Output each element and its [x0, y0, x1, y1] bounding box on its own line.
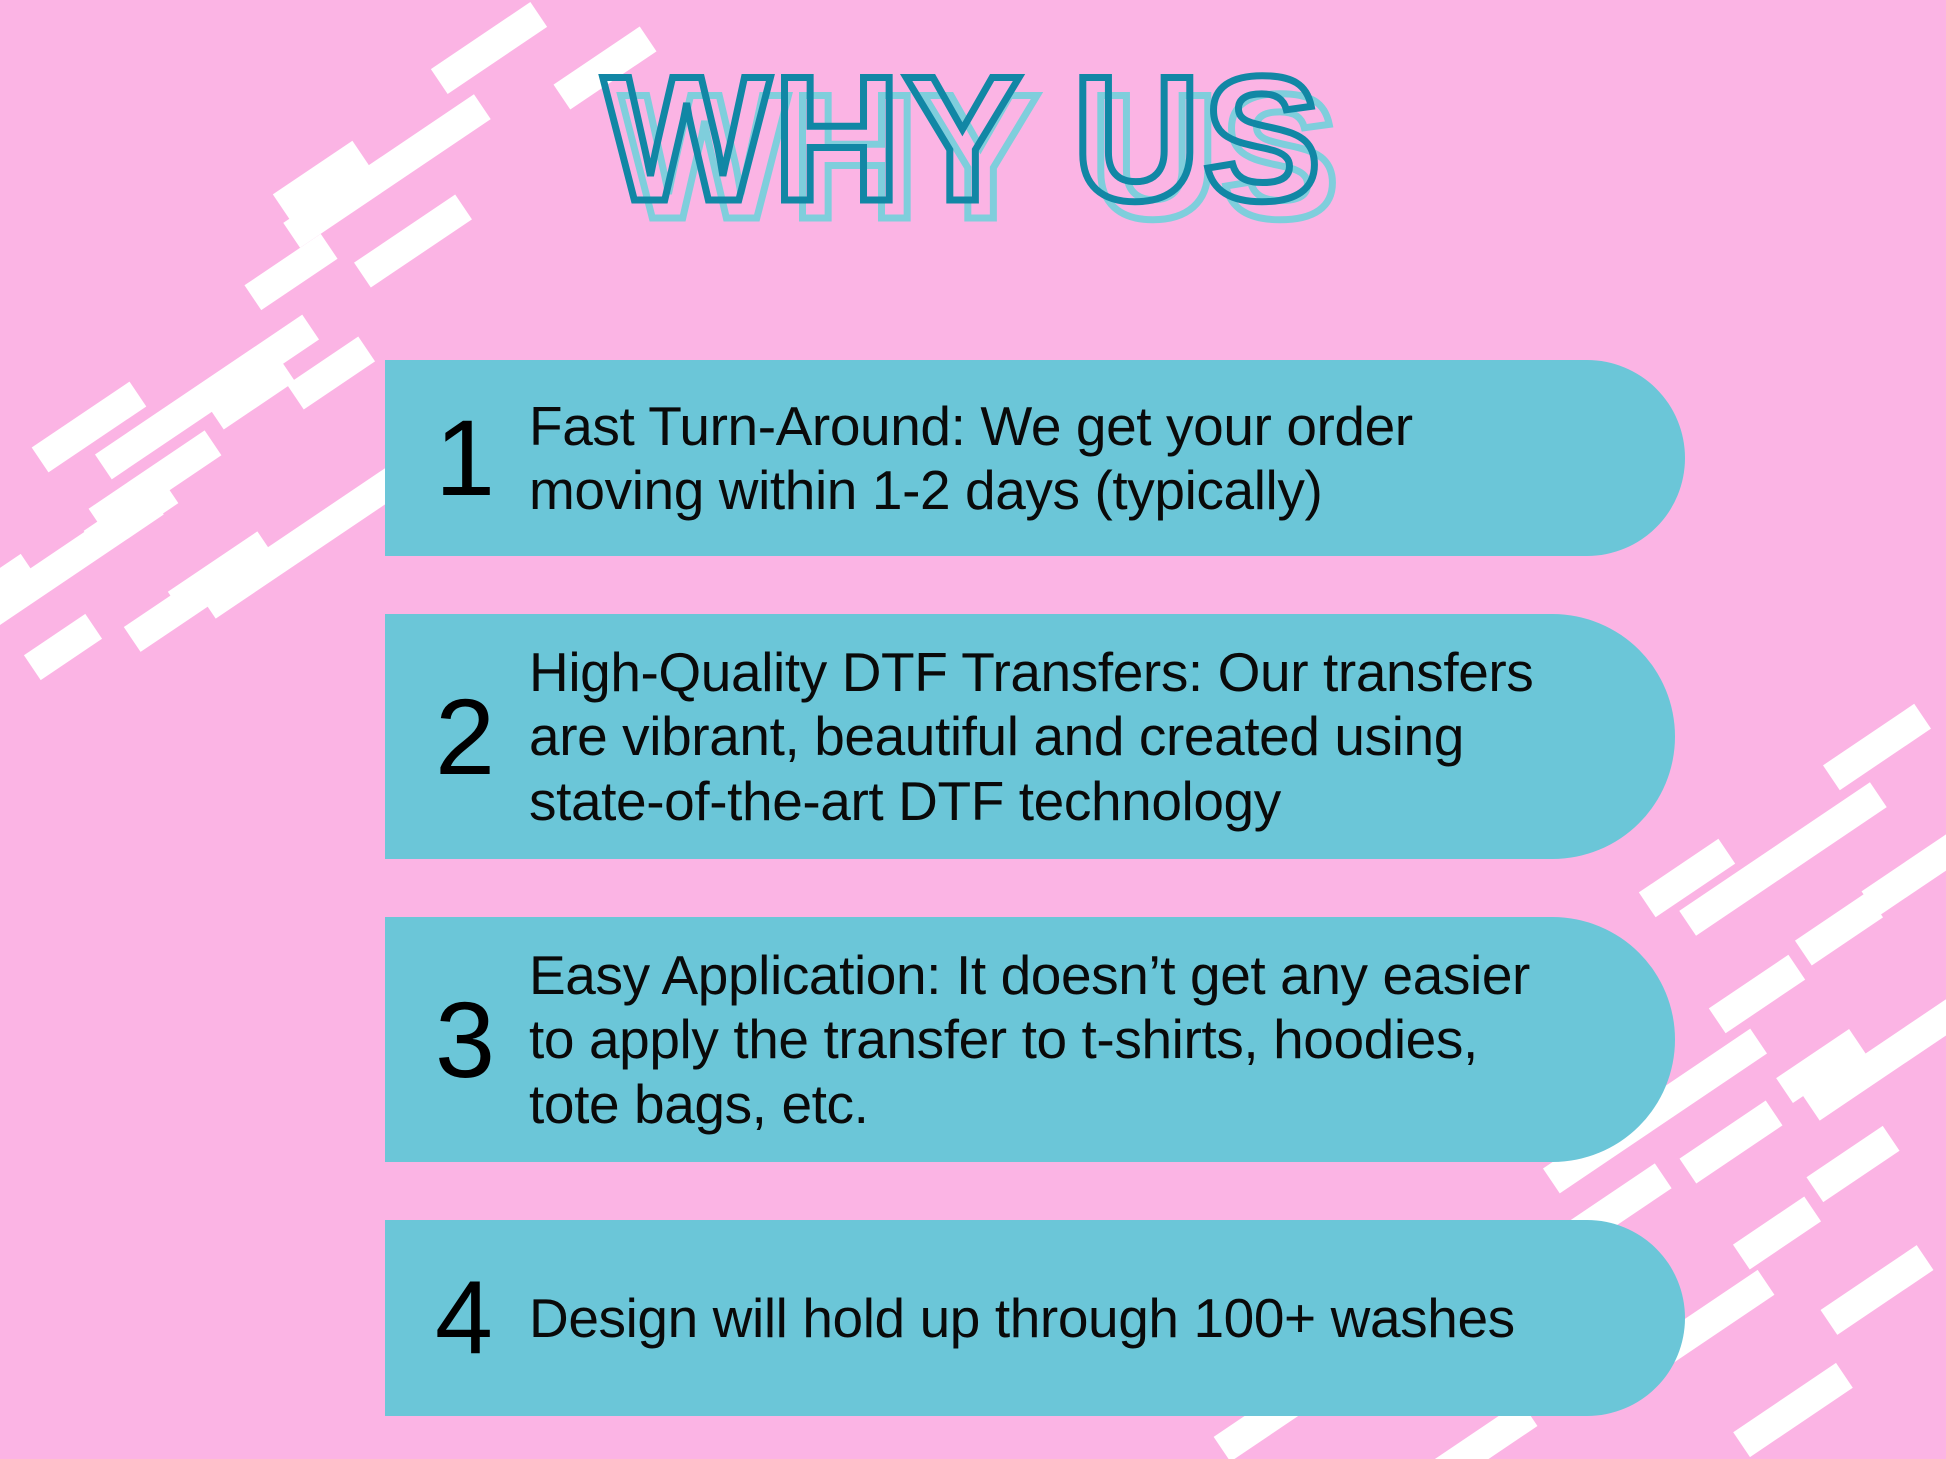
benefit-text: Easy Application: It doesn’t get any eas…: [529, 943, 1555, 1136]
page-title: WHY US WHY US WHY US: [0, 44, 1946, 234]
benefit-text: Design will hold up through 100+ washes: [529, 1286, 1565, 1350]
benefit-number: 3: [435, 986, 523, 1094]
poster-canvas: WHY US WHY US WHY US 1 Fast Turn-Around:…: [0, 0, 1946, 1459]
benefit-card-4: 4 Design will hold up through 100+ washe…: [385, 1220, 1685, 1416]
benefit-card-1: 1 Fast Turn-Around: We get your order mo…: [385, 360, 1685, 556]
benefit-number: 4: [435, 1266, 523, 1370]
title-stack: WHY US WHY US WHY US: [603, 44, 1344, 234]
title-main-layer: WHY US: [603, 44, 1324, 234]
benefit-text: High-Quality DTF Transfers: Our transfer…: [529, 640, 1555, 833]
benefit-text: Fast Turn-Around: We get your order movi…: [529, 394, 1565, 523]
benefits-list: 1 Fast Turn-Around: We get your order mo…: [385, 360, 1685, 1459]
benefit-card-3: 3 Easy Application: It doesn’t get any e…: [385, 917, 1675, 1162]
benefit-number: 1: [435, 404, 523, 512]
benefit-card-2: 2 High-Quality DTF Transfers: Our transf…: [385, 614, 1675, 859]
benefit-number: 2: [435, 683, 523, 791]
